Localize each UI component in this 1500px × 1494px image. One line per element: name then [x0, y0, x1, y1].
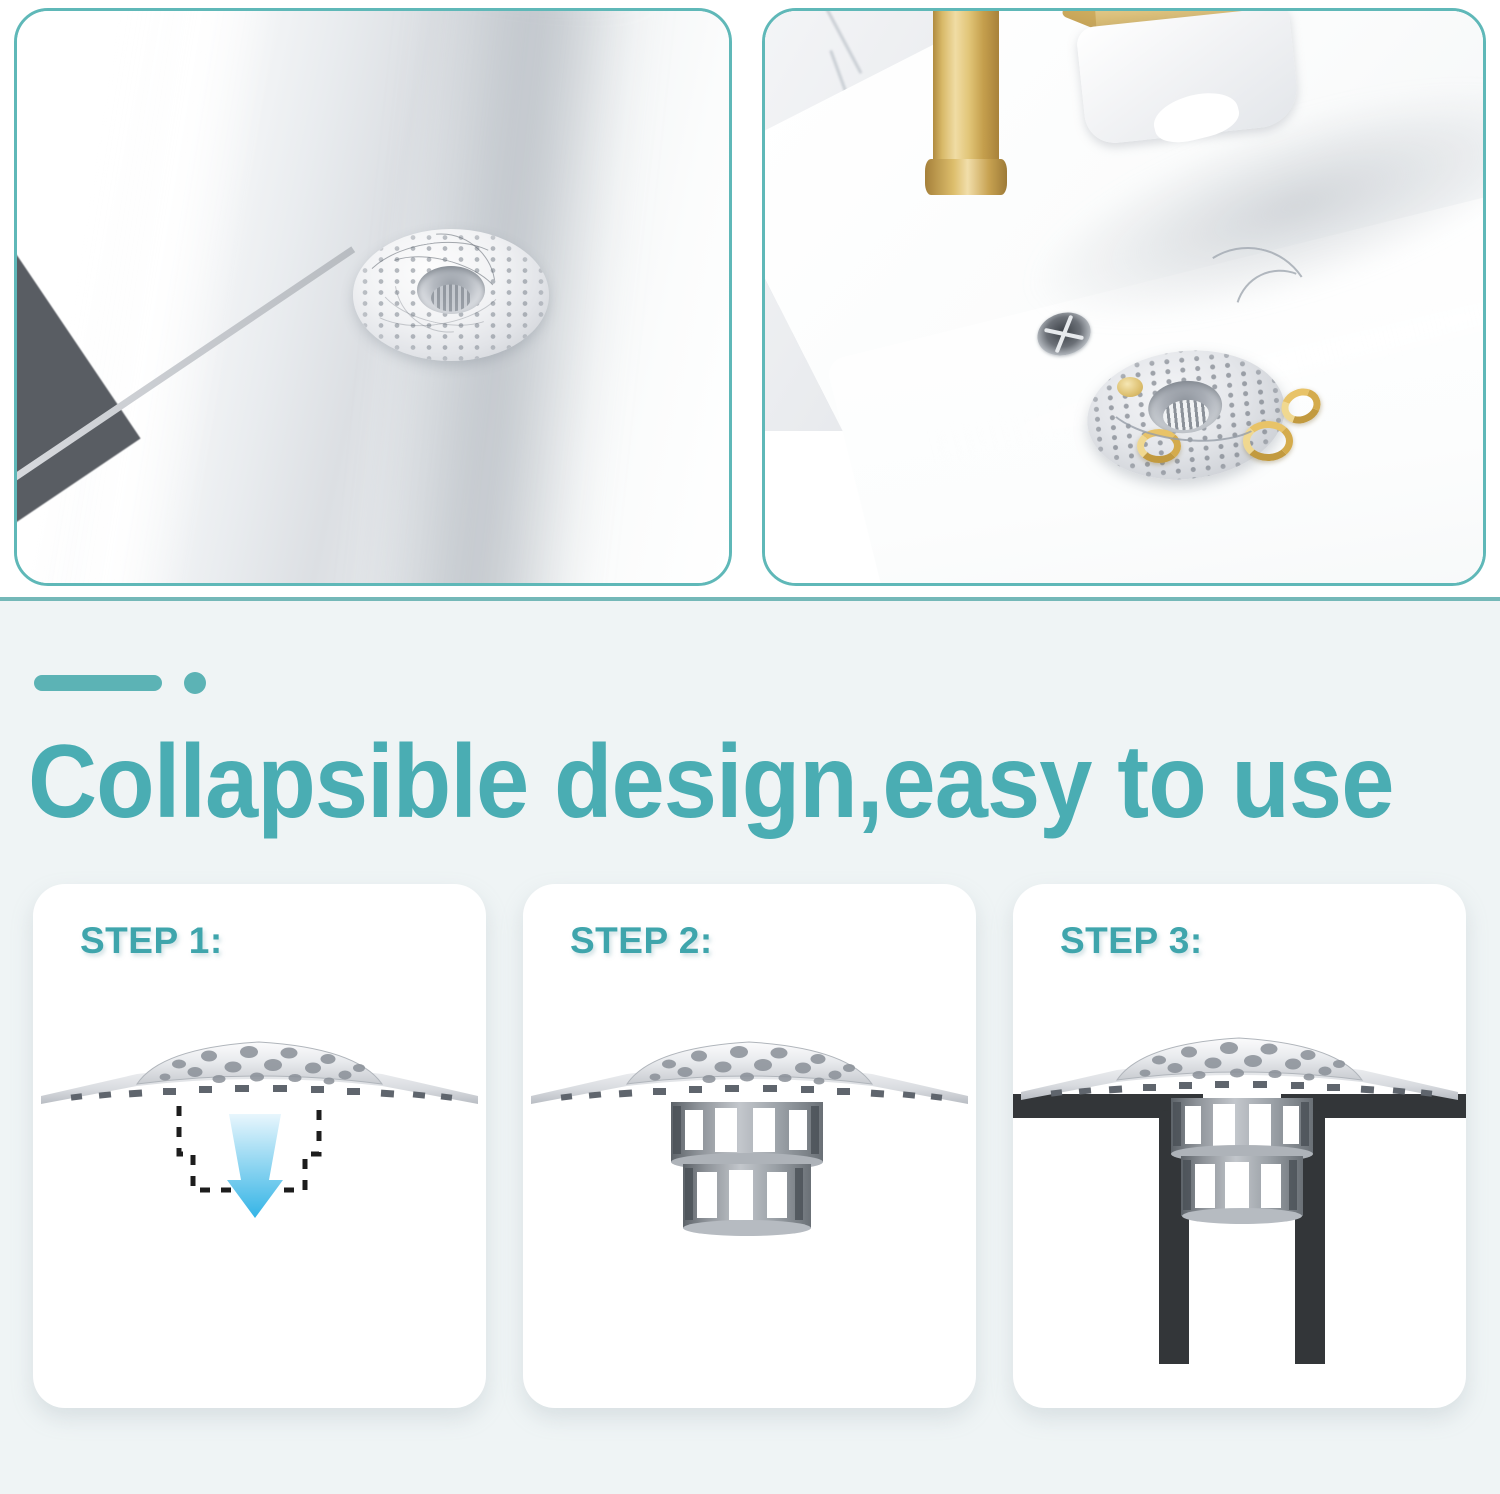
- step-2-illustration: [523, 1034, 976, 1408]
- strainer-disc-left: [353, 229, 549, 361]
- page-title: Collapsible design,easy to use: [28, 728, 1353, 837]
- photo-strip: [0, 0, 1500, 597]
- basin-with-strainer-photo: [14, 8, 732, 586]
- faucet-base: [925, 159, 1007, 195]
- sink-jewelry-photo: [762, 8, 1486, 586]
- headline-decoration: [34, 672, 206, 694]
- decoration-bar: [34, 675, 162, 691]
- faucet-column: [933, 11, 999, 181]
- step-card-3[interactable]: STEP 3:: [1013, 884, 1466, 1408]
- decoration-dot: [184, 672, 206, 694]
- step-3-label: STEP 3:: [1060, 920, 1203, 962]
- step-3-illustration: [1013, 1034, 1466, 1408]
- step-2-label: STEP 2:: [570, 920, 713, 962]
- step-1-label: STEP 1:: [80, 920, 223, 962]
- step-cards: STEP 1:: [0, 884, 1500, 1414]
- product-infographic-page: Collapsible design,easy to use STEP 1:: [0, 0, 1500, 1494]
- step-card-2[interactable]: STEP 2:: [523, 884, 976, 1408]
- step-1-illustration: [33, 1034, 486, 1408]
- step-card-1[interactable]: STEP 1:: [33, 884, 486, 1408]
